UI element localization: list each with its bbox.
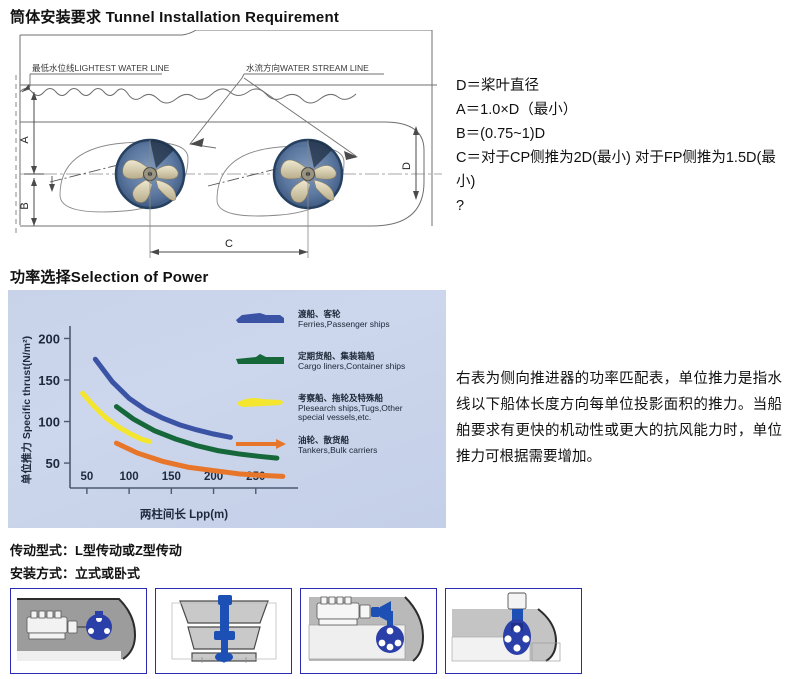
chart-y-tick-label: 150 (38, 373, 60, 388)
chart-legend-label-en-3: Tankers,Bulk carriers (298, 445, 377, 455)
dimension-label-d: D (401, 162, 413, 170)
chart-y-tick-label: 50 (46, 456, 60, 471)
formula-line-c-cont: 小) (456, 170, 786, 194)
page-title-selection-of-power: 功率选择Selection of Power (10, 266, 209, 287)
thumbnail-horizontal-engine-driven-thruster[interactable] (10, 588, 147, 674)
installation-thumbnail-row (10, 588, 582, 674)
chart-legend-label-en-0: Ferries,Passenger ships (298, 319, 390, 329)
chart-legend-label-cn-0: 渡船、客轮 (298, 309, 341, 319)
chart-y-tick-label: 100 (38, 415, 60, 430)
specific-thrust-chart: 50100150200 50100150200250 渡船、客轮Ferries,… (8, 290, 446, 528)
formula-line-question: ? (456, 194, 786, 218)
tunnel-installation-diagram: A B D C 最低水位线LIGHTEST WATER LINE 水流方向WAT… (12, 30, 452, 262)
chart-x-tick-label: 150 (162, 471, 181, 483)
chart-legend-marker-2 (238, 398, 283, 407)
chart-legend-label-cn-3: 油轮、散货船 (298, 435, 350, 445)
thumbnail-engine-driven-thruster-in-hull[interactable] (300, 588, 437, 674)
chart-y-axis-title: 单位推力 Specific thrust(N/m²) (20, 336, 33, 484)
chart-y-tick-label: 200 (38, 331, 60, 346)
water-stream-line-label: 水流方向WATER STREAM LINE (246, 63, 369, 73)
drive-type-line: 传动型式：L型传动或Z型传动 (10, 540, 182, 559)
power-selection-note: 右表为侧向推进器的功率匹配表，单位推力是指水线以下船体长度方向每单位投影面积的推… (456, 366, 782, 470)
dimension-label-a: A (19, 136, 31, 144)
chart-x-tick-label: 50 (80, 471, 93, 483)
chart-legend-marker-0 (236, 313, 284, 323)
chart-legend-label-en-2: special vessels,etc. (298, 412, 371, 422)
formula-line-a: A＝1.0×D（最小） (456, 98, 786, 122)
formula-line-b: B＝(0.75~1)D (456, 122, 786, 146)
formula-line-c: C＝对于CP侧推为2D(最小) 对于FP侧推为1.5D(最 (456, 146, 786, 170)
formula-line-d: D＝桨叶直径 (456, 74, 786, 98)
chart-x-tick-label: 100 (120, 471, 139, 483)
thumbnail-vertical-l-drive-section[interactable] (155, 588, 292, 674)
page-title-tunnel-installation: 筒体安装要求 Tunnel Installation Requirement (10, 6, 339, 27)
chart-legend-marker-1 (236, 354, 284, 364)
install-type-line: 安装方式：立式或卧式 (10, 563, 140, 582)
chart-legend-label-en-1: Cargo liners,Container ships (298, 361, 405, 371)
chart-legend-marker-3 (236, 439, 286, 449)
chart-legend-label-cn-1: 定期货船、集装箱船 (297, 351, 375, 361)
chart-series-line-2 (83, 393, 150, 441)
chart-x-axis-title: 两柱间长 Lpp(m) (140, 507, 228, 521)
lightest-water-line-label: 最低水位线LIGHTEST WATER LINE (32, 63, 170, 73)
dimension-label-c: C (225, 238, 233, 250)
chart-legend-label-cn-2: 考察船、拖轮及特殊船 (298, 393, 384, 403)
dimension-label-b: B (19, 202, 31, 209)
thumbnail-vertical-thruster-in-hull[interactable] (445, 588, 582, 674)
tunnel-formula-block: D＝桨叶直径 A＝1.0×D（最小） B＝(0.75~1)D C＝对于CP侧推为… (456, 74, 786, 218)
